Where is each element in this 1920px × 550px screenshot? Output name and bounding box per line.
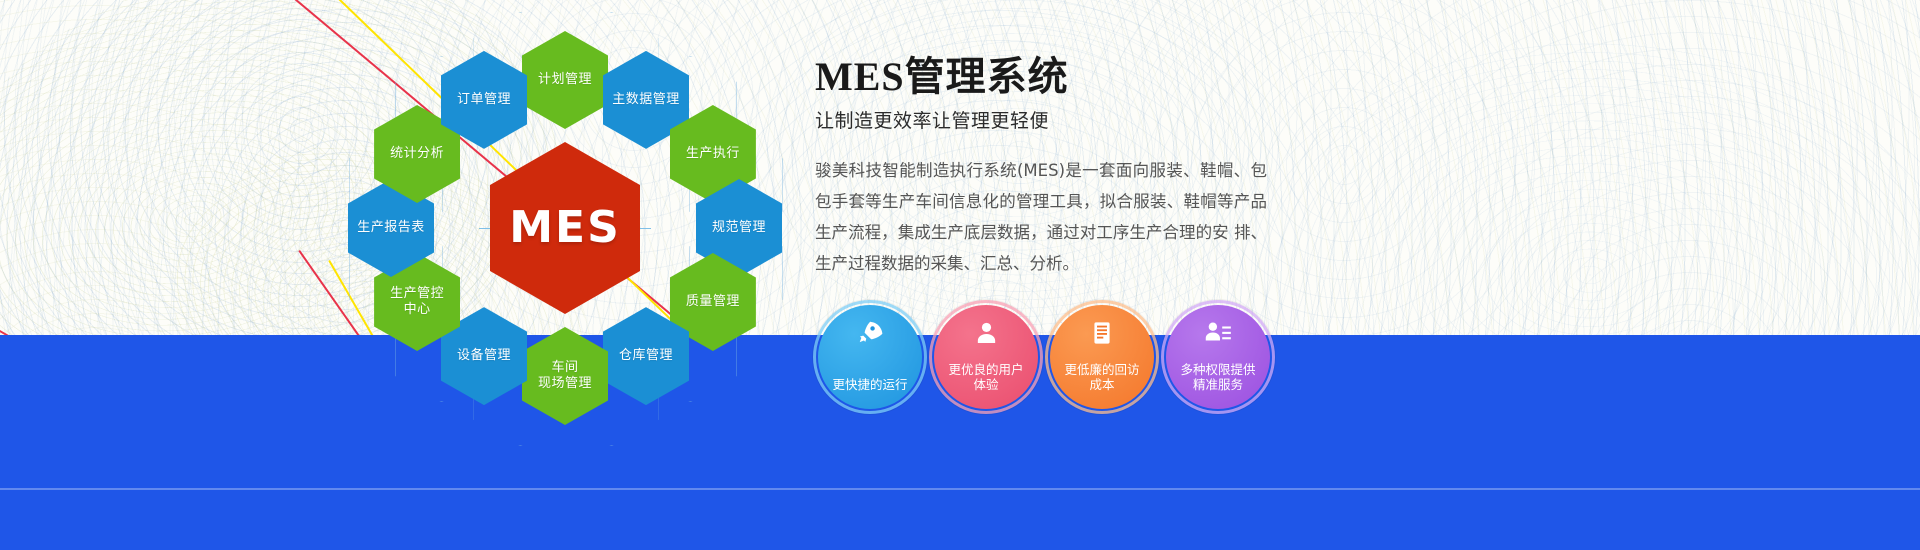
page-title: MES管理系统 xyxy=(815,55,1285,100)
badge-label: 更低廉的回访成本 xyxy=(1064,362,1139,392)
permission-icon xyxy=(1203,318,1233,348)
diagram-node-label: 仓库管理 xyxy=(615,348,677,364)
diagram-node-label: 订单管理 xyxy=(453,92,515,108)
diagram-node-label: 规范管理 xyxy=(708,220,770,236)
diagram-node-label: 统计分析 xyxy=(386,146,448,162)
badge-label: 更优良的用户体验 xyxy=(948,362,1023,392)
user-icon xyxy=(971,318,1001,348)
diagram-center-label: MES xyxy=(505,220,625,236)
badge-label: 更快捷的运行 xyxy=(832,377,907,392)
diagram-node-label: 生产执行 xyxy=(682,146,744,162)
band-divider-line xyxy=(0,488,1920,490)
diagram-node-label: 车间现场管理 xyxy=(534,360,596,392)
page-subtitle: 让制造更效率让管理更轻便 xyxy=(815,106,1285,133)
diagram-node-label: 生产报告表 xyxy=(353,220,429,236)
diagram-node[interactable]: 车间现场管理 xyxy=(522,327,608,425)
badge-label: 多种权限提供精准服务 xyxy=(1180,362,1255,392)
document-icon xyxy=(1087,318,1117,348)
feature-badge[interactable]: 多种权限提供精准服务 xyxy=(1166,305,1270,409)
banner-stage: 计划管理主数据管理生产执行规范管理质量管理仓库管理车间现场管理设备管理生产管控中… xyxy=(0,0,1920,550)
page-description: 骏美科技智能制造执行系统(MES)是一套面向服装、鞋帽、包包手套等生产车间信息化… xyxy=(815,155,1267,279)
mes-hex-diagram: 计划管理主数据管理生产执行规范管理质量管理仓库管理车间现场管理设备管理生产管控中… xyxy=(330,0,800,430)
rocket-icon xyxy=(855,318,885,348)
diagram-node-label: 质量管理 xyxy=(682,294,744,310)
feature-badge[interactable]: 更优良的用户体验 xyxy=(934,305,1038,409)
banner-content: MES管理系统 让制造更效率让管理更轻便 骏美科技智能制造执行系统(MES)是一… xyxy=(815,55,1285,279)
diagram-node-label: 计划管理 xyxy=(534,72,596,88)
diagram-node-label: 设备管理 xyxy=(453,348,515,364)
feature-badge[interactable]: 更快捷的运行 xyxy=(818,305,922,409)
feature-badge[interactable]: 更低廉的回访成本 xyxy=(1050,305,1154,409)
diagram-node-label: 主数据管理 xyxy=(608,92,684,108)
diagram-node-label: 生产管控中心 xyxy=(386,286,448,318)
diagram-node[interactable]: 计划管理 xyxy=(522,31,608,129)
feature-badge-list: 更快捷的运行更优良的用户体验更低廉的回访成本多种权限提供精准服务 xyxy=(818,305,1270,409)
